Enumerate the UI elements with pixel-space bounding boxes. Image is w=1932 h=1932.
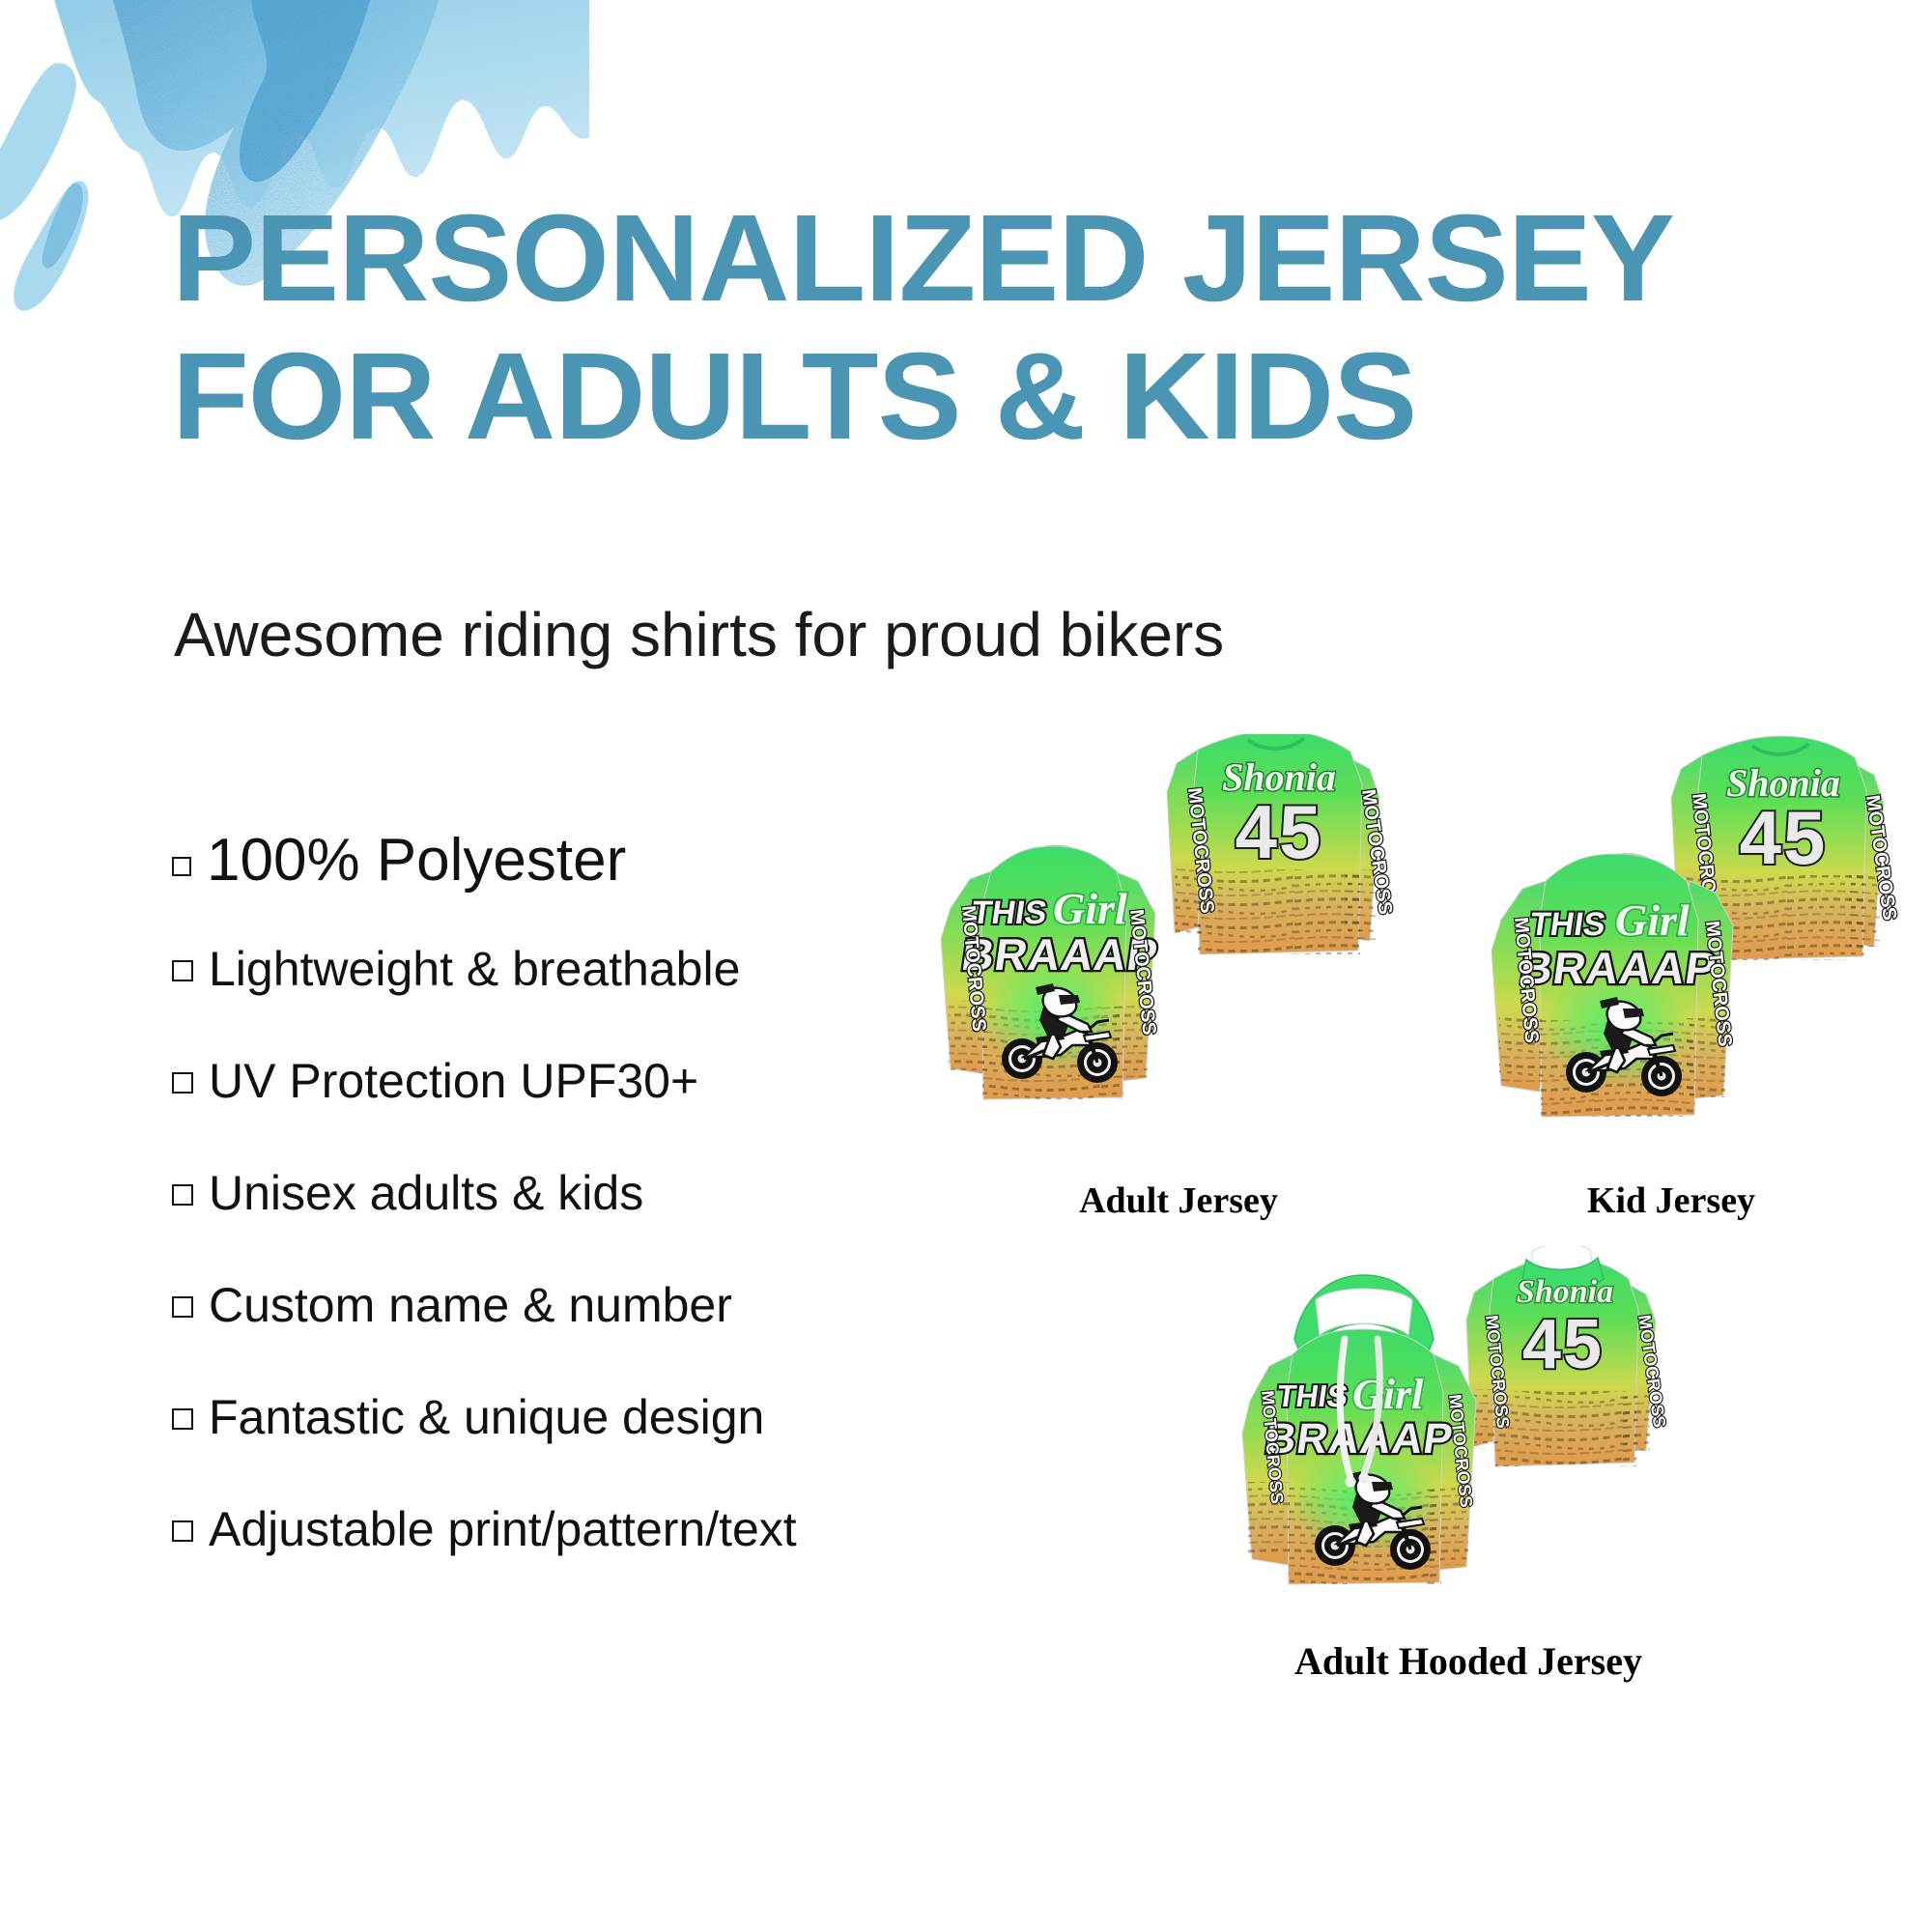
brush-droplets <box>0 63 88 310</box>
list-item: UV Protection UPF30+ <box>172 1053 974 1109</box>
jersey-front-text-girl: Girl <box>1352 1371 1424 1418</box>
feature-label: Fantastic & unique design <box>209 1389 764 1445</box>
page-title-line-2: FOR ADULTS & KIDS <box>172 327 1502 466</box>
list-item: 100% Polyester <box>172 826 974 895</box>
feature-label: UV Protection UPF30+ <box>209 1053 698 1109</box>
feature-label: Custom name & number <box>209 1277 732 1333</box>
feature-label: Unisex adults & kids <box>209 1165 643 1221</box>
feature-label: Lightweight & breathable <box>209 941 740 997</box>
adult-jersey-image: Shonia 45 MOTOCROSS MOTOCROSS THIS <box>908 734 1449 1174</box>
square-outline-icon <box>172 1408 193 1430</box>
feature-label: Adjustable print/pattern/text <box>209 1501 797 1557</box>
jersey-front-text-braaap: BRAAAP <box>1517 943 1719 993</box>
square-outline-icon <box>172 857 191 876</box>
page-subtitle: Awesome riding shirts for proud bikers <box>174 599 1224 670</box>
jersey-back-number: 45 <box>1522 1306 1604 1383</box>
adult-jersey-back-view: Shonia 45 MOTOCROSS MOTOCROSS <box>1167 734 1396 954</box>
product-kid-jersey: Shonia 45 MOTOCROSS MOTOCROSS THIS Girl … <box>1401 734 1932 1222</box>
hooded-jersey-back-view: Shonia 45 MOTOCROSS MOTOCROSS <box>1466 1246 1669 1466</box>
product-adult-hooded-jersey: Shonia 45 MOTOCROSS MOTOCROSS THIS Girl … <box>1236 1246 1700 1684</box>
page-title-line-1: PERSONALIZED JERSEY <box>172 189 1502 327</box>
adult-hooded-jersey-image: Shonia 45 MOTOCROSS MOTOCROSS THIS Girl … <box>1236 1246 1700 1633</box>
jersey-back-number: 45 <box>1740 795 1828 880</box>
square-outline-icon <box>172 1296 193 1318</box>
product-caption: Kid Jersey <box>1401 1179 1932 1222</box>
jersey-front-text-braaap: BRAAAP <box>1263 1415 1457 1463</box>
list-item: Adjustable print/pattern/text <box>172 1501 974 1557</box>
list-item: Fantastic & unique design <box>172 1389 974 1445</box>
brush-stroke-main <box>48 0 589 216</box>
adult-jersey-front-view: THIS Girl BRAAAP MOTOCROSS MOTOCROSS <box>941 844 1161 1099</box>
product-caption: Adult Jersey <box>908 1179 1449 1222</box>
square-outline-icon <box>172 1520 193 1542</box>
brush-texture-core <box>240 0 377 182</box>
hooded-jersey-front-view: THIS Girl BRAAAP MOTOCROSS MOTOCROSS <box>1242 1275 1476 1584</box>
jersey-back-number: 45 <box>1236 789 1323 874</box>
square-outline-icon <box>172 1072 193 1094</box>
jersey-front-text-girl: Girl <box>1615 895 1690 945</box>
jersey-back-name: Shonia <box>1517 1274 1613 1310</box>
list-item: Unisex adults & kids <box>172 1165 974 1221</box>
feature-label: 100% Polyester <box>207 826 626 895</box>
square-outline-icon <box>172 1184 193 1206</box>
list-item: Custom name & number <box>172 1277 974 1333</box>
product-adult-jersey: Shonia 45 MOTOCROSS MOTOCROSS THIS <box>908 734 1449 1222</box>
page-title: PERSONALIZED JERSEY FOR ADULTS & KIDS <box>172 189 1476 467</box>
list-item: Lightweight & breathable <box>172 941 974 997</box>
kid-jersey-image: Shonia 45 MOTOCROSS MOTOCROSS THIS Girl … <box>1401 734 1932 1174</box>
product-caption: Adult Hooded Jersey <box>1236 1638 1700 1684</box>
feature-list: 100% Polyester Lightweight & breathable … <box>172 826 974 1613</box>
jersey-front-text-this: THIS <box>1528 906 1608 943</box>
jersey-front-text-girl: Girl <box>1053 884 1127 933</box>
square-outline-icon <box>172 960 193 981</box>
kid-jersey-front-view: THIS Girl BRAAAP MOTOCROSS MOTOCROSS <box>1492 853 1736 1117</box>
